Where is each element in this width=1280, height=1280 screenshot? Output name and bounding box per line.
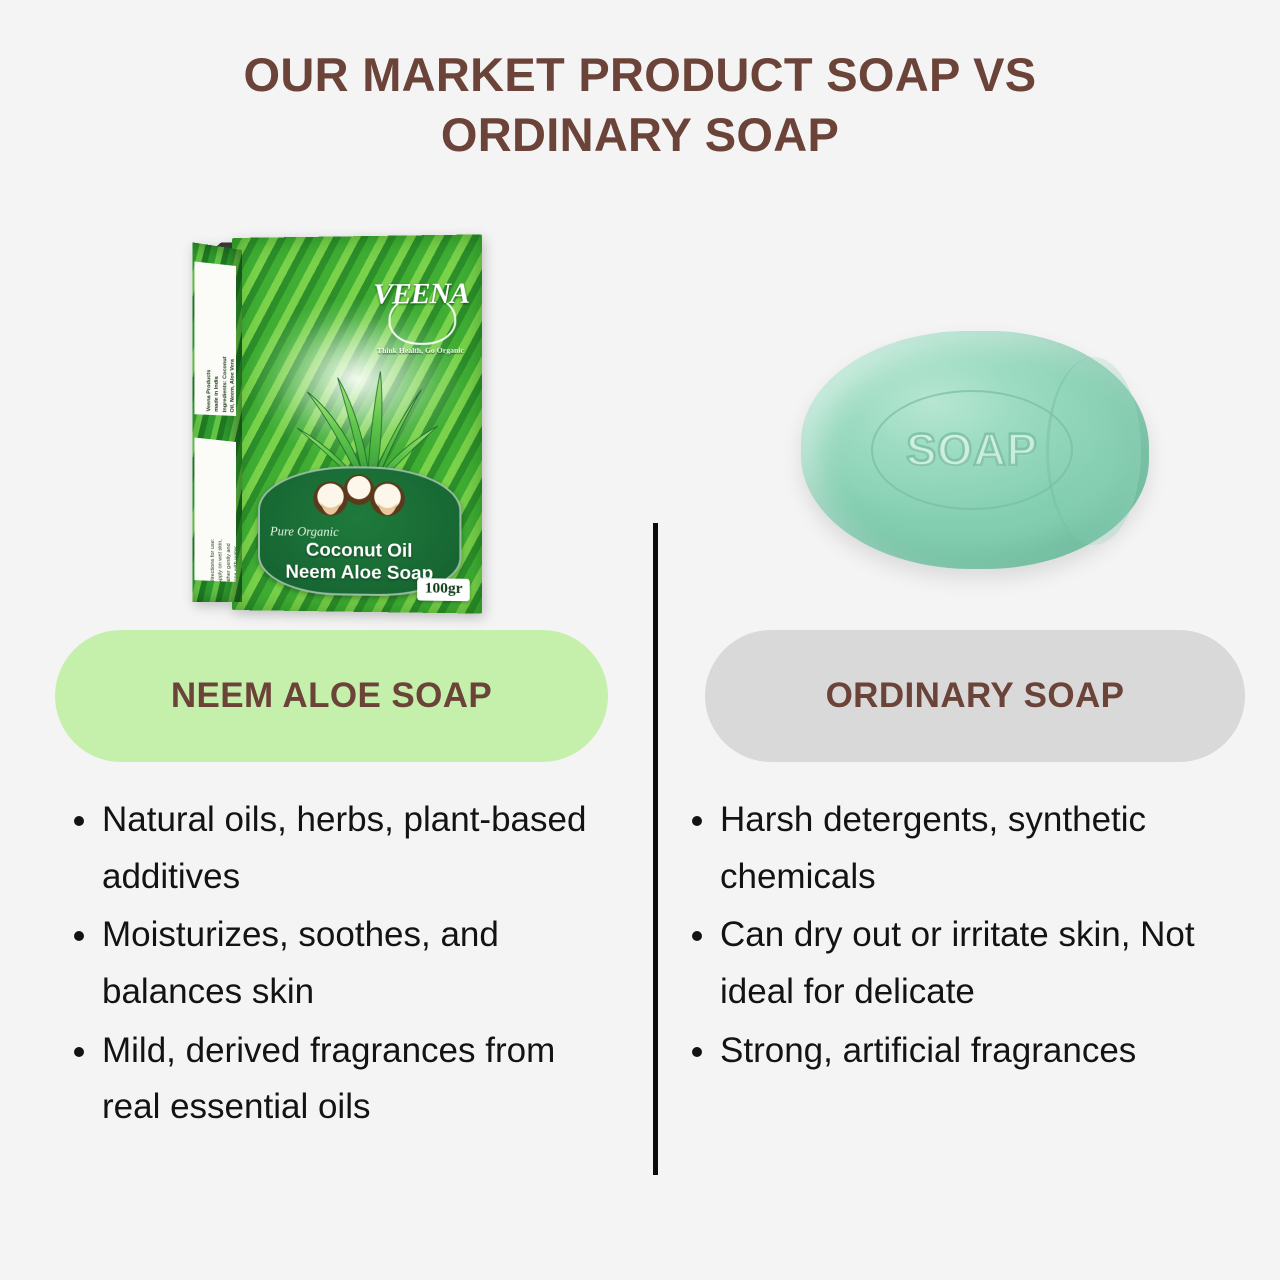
leaf-swoosh-icon	[389, 294, 457, 345]
side-panel-lower: Directions for use: Apply on wet skin, l…	[194, 438, 236, 582]
veena-brand-logo: VEENA Think Health, Go Organic	[373, 279, 467, 355]
coconut-illustration	[306, 474, 412, 521]
list-item: Moisturizes, soothes, and balances skin	[62, 907, 618, 1020]
list-item: Harsh detergents, synthetic chemicals	[680, 792, 1240, 905]
drawbacks-list-ordinary: Harsh detergents, synthetic chemicals Ca…	[680, 792, 1240, 1081]
side-panel-lower-text: Directions for use: Apply on wet skin, l…	[209, 442, 236, 582]
benefits-list-neem: Natural oils, herbs, plant-based additiv…	[62, 792, 618, 1138]
soap-emboss-oval: SOAP	[871, 390, 1073, 510]
box-front-face: VEENA Think Health, Go Organic	[232, 234, 482, 613]
comparison-columns: VEENA Think Health, Go Organic	[0, 0, 1280, 1280]
side-panel-upper-text: Veena Products made in India Ingredients…	[205, 269, 236, 413]
list-item: Strong, artificial fragrances	[680, 1023, 1240, 1080]
pill-ordinary-soap: ORDINARY SOAP	[705, 630, 1245, 762]
brand-tagline: Think Health, Go Organic	[373, 346, 467, 356]
list-item: Mild, derived fragrances from real essen…	[62, 1023, 618, 1136]
column-ordinary-soap: SOAP ORDINARY SOAP Harsh detergents, syn…	[640, 0, 1280, 1280]
badge-line-1: Coconut Oil	[260, 538, 459, 562]
side-panel-upper: Veena Products made in India Ingredients…	[194, 261, 236, 416]
column-neem-aloe-soap: VEENA Think Health, Go Organic	[0, 0, 640, 1280]
pill-ordinary-soap-label: ORDINARY SOAP	[826, 676, 1125, 716]
pill-neem-aloe-soap: NEEM ALOE SOAP	[55, 630, 608, 762]
neem-soap-image-area: VEENA Think Health, Go Organic	[0, 228, 640, 620]
soap-emboss-text: SOAP	[906, 424, 1038, 476]
ordinary-soap-image-area: SOAP	[640, 228, 1280, 620]
pill-neem-aloe-soap-label: NEEM ALOE SOAP	[171, 676, 492, 716]
net-weight-label: 100gr	[418, 578, 470, 601]
list-item: Natural oils, herbs, plant-based additiv…	[62, 792, 618, 905]
list-item: Can dry out or irritate skin, Not ideal …	[680, 907, 1240, 1020]
neem-soap-product-box: VEENA Think Health, Go Organic	[186, 228, 478, 613]
soap-bar-body: SOAP	[801, 331, 1149, 569]
ordinary-soap-bar: SOAP	[795, 323, 1155, 583]
